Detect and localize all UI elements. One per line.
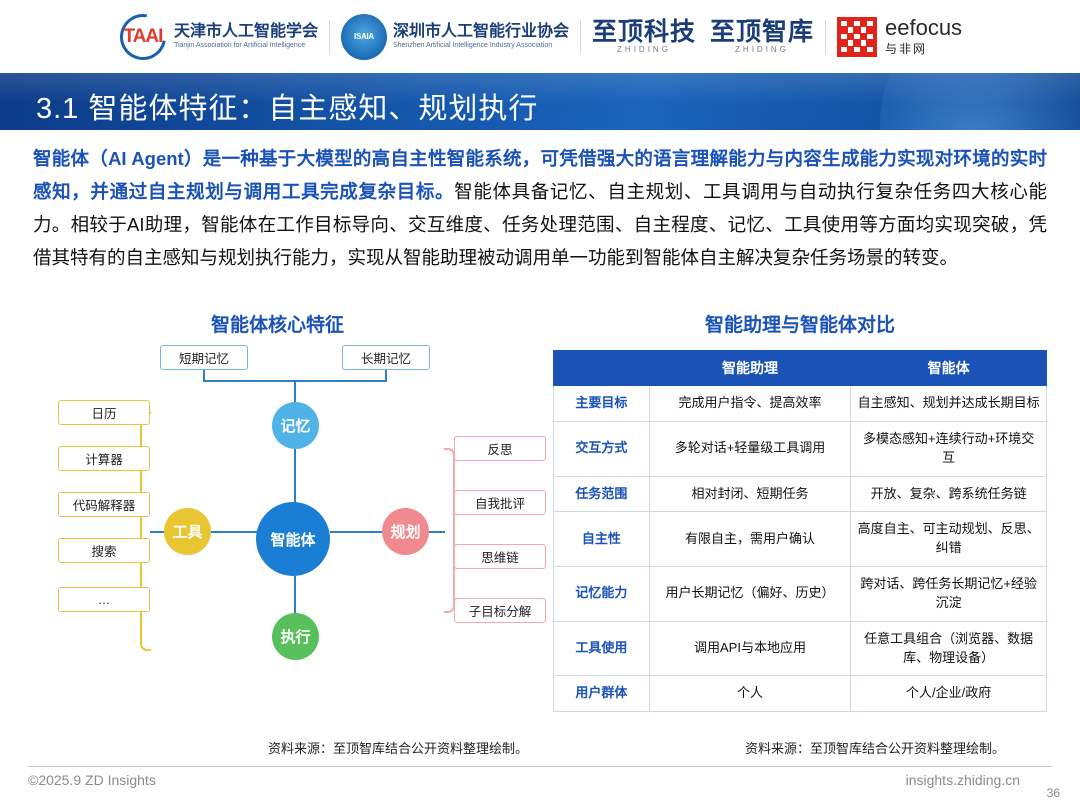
isaia-logo-icon: ISAIA [341, 14, 387, 60]
node-tools: 工具 [164, 508, 211, 555]
footer-divider [28, 766, 1052, 767]
row-label-task-scope: 任务范围 [554, 476, 650, 512]
tool-box-calculator: 计算器 [58, 446, 150, 471]
logo-zhiding-think-tank: 至顶智库 ZHIDING [703, 9, 821, 65]
row-label-autonomy: 自主性 [554, 512, 650, 567]
tool-box-more: … [58, 587, 150, 612]
slide-header: TAAI 天津市人工智能学会 Tianjin Association for A… [0, 0, 1080, 73]
page-number: 36 [1047, 786, 1060, 800]
cell-agent-main-goal: 自主感知、规划并达成长期目标 [851, 386, 1047, 422]
row-label-user-group: 用户群体 [554, 676, 650, 712]
plan-box-self-critique: 自我批评 [454, 490, 546, 515]
taai-name-cn: 天津市人工智能学会 [174, 23, 318, 41]
link-plan-stem [429, 531, 445, 533]
logo-divider-3 [825, 20, 826, 54]
row-label-main-goal: 主要目标 [554, 386, 650, 422]
cell-agent-interaction: 多模态感知+连续行动+环境交互 [851, 421, 1047, 476]
eefocus-sub: 与非网 [885, 40, 962, 57]
table-header-agent: 智能体 [851, 351, 1047, 386]
node-execution: 执行 [272, 613, 319, 660]
slide-title-bar: 3.1 智能体特征：自主感知、规划执行 [0, 73, 1080, 130]
table-row: 任务范围 相对封闭、短期任务 开放、复杂、跨系统任务链 [554, 476, 1047, 512]
zhiding-tech-name: 至顶科技 [592, 20, 696, 45]
link-memory-stem [294, 380, 296, 403]
table-row: 工具使用 调用API与本地应用 任意工具组合（浏览器、数据库、物理设备） [554, 621, 1047, 676]
row-label-tool-use: 工具使用 [554, 621, 650, 676]
body-paragraph: 智能体（AI Agent）是一种基于大模型的高自主性智能系统，可凭借强大的语言理… [33, 142, 1047, 274]
isaia-name-cn: 深圳市人工智能行业协会 [393, 23, 569, 41]
cell-agent-task-scope: 开放、复杂、跨系统任务链 [851, 476, 1047, 512]
footer-copyright: ©2025.9 ZD Insights [28, 772, 156, 788]
row-label-interaction: 交互方式 [554, 421, 650, 476]
plan-box-reflection: 反思 [454, 436, 546, 461]
logo-divider-2 [580, 20, 581, 54]
eefocus-name: eefocus [885, 16, 962, 39]
logo-isaia: ISAIA 深圳市人工智能行业协会 Shenzhen Artificial In… [334, 9, 576, 65]
taai-logo-icon: TAAI [118, 12, 168, 62]
cell-assistant-autonomy: 有限自主，需用户确认 [649, 512, 850, 567]
cell-assistant-main-goal: 完成用户指令、提高效率 [649, 386, 850, 422]
tool-box-search: 搜索 [58, 538, 150, 563]
node-agent: 智能体 [256, 502, 330, 576]
table-header-blank [554, 351, 650, 386]
table-row: 交互方式 多轮对话+轻量级工具调用 多模态感知+连续行动+环境交互 [554, 421, 1047, 476]
row-label-memory: 记忆能力 [554, 567, 650, 622]
node-planning: 规划 [382, 508, 429, 555]
logo-divider-1 [329, 20, 330, 54]
plan-box-chain-of-thought: 思维链 [454, 544, 546, 569]
cell-assistant-tool-use: 调用API与本地应用 [649, 621, 850, 676]
cell-assistant-memory: 用户长期记忆（偏好、历史） [649, 567, 850, 622]
memory-box-long: 长期记忆 [342, 345, 430, 370]
cell-agent-memory: 跨对话、跨任务长期记忆+经验沉淀 [851, 567, 1047, 622]
table-row: 用户群体 个人 个人/企业/政府 [554, 676, 1047, 712]
right-source-note: 资料来源：至顶智库结合公开资料整理绘制。 [745, 738, 1005, 757]
footer-website: insights.zhiding.cn [906, 772, 1020, 788]
link-center-planning [330, 531, 383, 533]
table-header-assistant: 智能助理 [649, 351, 850, 386]
logo-taai: TAAI 天津市人工智能学会 Tianjin Association for A… [111, 9, 325, 65]
tool-box-calendar: 日历 [58, 400, 150, 425]
eefocus-logo-icon [837, 17, 877, 57]
agent-core-features-diagram: 短期记忆 长期记忆 日历 计算器 代码解释器 搜索 … 反思 自我批评 思维链 … [20, 340, 540, 730]
cell-assistant-interaction: 多轮对话+轻量级工具调用 [649, 421, 850, 476]
link-center-memory [294, 449, 296, 503]
cell-assistant-user-group: 个人 [649, 676, 850, 712]
planning-bracket [444, 448, 455, 613]
link-center-tools [211, 531, 257, 533]
cell-agent-autonomy: 高度自主、可主动规划、反思、纠错 [851, 512, 1047, 567]
table-row: 自主性 有限自主，需用户确认 高度自主、可主动规划、反思、纠错 [554, 512, 1047, 567]
plan-box-subgoal-decomposition: 子目标分解 [454, 598, 546, 623]
table-header-row: 智能助理 智能体 [554, 351, 1047, 386]
logo-row: TAAI 天津市人工智能学会 Tianjin Association for A… [0, 0, 1080, 73]
cell-assistant-task-scope: 相对封闭、短期任务 [649, 476, 850, 512]
tool-box-code-interpreter: 代码解释器 [58, 492, 150, 517]
cell-agent-tool-use: 任意工具组合（浏览器、数据库、物理设备） [851, 621, 1047, 676]
zhiding-think-tank-sub: ZHIDING [710, 45, 814, 54]
memory-box-short: 短期记忆 [160, 345, 248, 370]
zhiding-tech-sub: ZHIDING [592, 45, 696, 54]
logo-zhiding-tech: 至顶科技 ZHIDING [585, 9, 703, 65]
cell-agent-user-group: 个人/企业/政府 [851, 676, 1047, 712]
assistant-vs-agent-table: 智能助理 智能体 主要目标 完成用户指令、提高效率 自主感知、规划并达成长期目标… [553, 350, 1047, 712]
node-memory: 记忆 [272, 402, 319, 449]
right-section-title: 智能助理与智能体对比 [705, 310, 895, 337]
page-title: 3.1 智能体特征：自主感知、规划执行 [36, 85, 538, 127]
table-row: 记忆能力 用户长期记忆（偏好、历史） 跨对话、跨任务长期记忆+经验沉淀 [554, 567, 1047, 622]
left-source-note: 资料来源：至顶智库结合公开资料整理绘制。 [268, 738, 528, 757]
logo-eefocus: eefocus 与非网 [830, 9, 969, 65]
table-row: 主要目标 完成用户指令、提高效率 自主感知、规划并达成长期目标 [554, 386, 1047, 422]
taai-name-en: Tianjin Association for Artificial Intel… [174, 42, 318, 50]
link-memory-cross [203, 380, 387, 382]
zhiding-think-tank-name: 至顶智库 [710, 20, 814, 45]
left-section-title: 智能体核心特征 [211, 310, 344, 337]
link-center-execution [294, 576, 296, 614]
isaia-name-en: Shenzhen Artificial Intelligence Industr… [393, 42, 569, 50]
